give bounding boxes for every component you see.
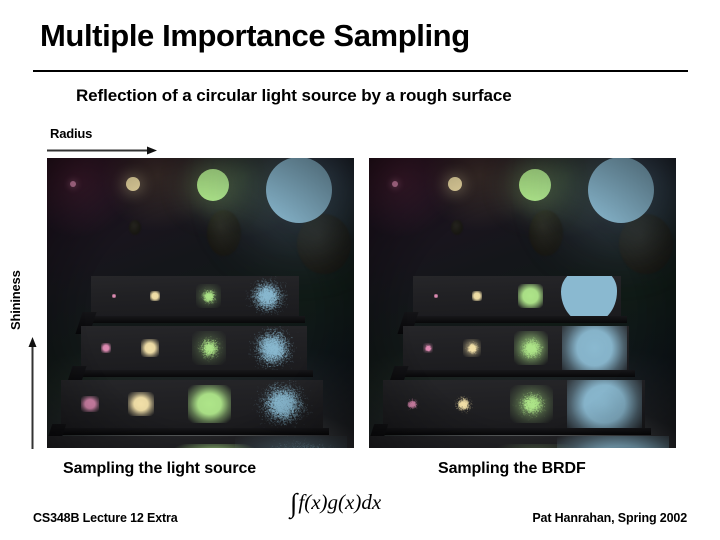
shininess-arrow-icon — [28, 337, 37, 449]
footer-author: Pat Hanrahan, Spring 2002 — [532, 511, 687, 525]
footer-course: CS348B Lecture 12 Extra — [33, 511, 178, 525]
shininess-axis-label: Shininess — [8, 210, 23, 330]
slide-canvas: Multiple Importance Sampling Reflection … — [0, 0, 720, 540]
caption-brdf-sampling: Sampling the BRDF — [438, 460, 586, 478]
page-title: Multiple Importance Sampling — [40, 18, 680, 54]
title-divider — [33, 70, 688, 72]
scene-vignette — [369, 158, 676, 448]
radius-arrow-icon — [47, 146, 157, 155]
subtitle: Reflection of a circular light source by… — [76, 86, 676, 106]
integral-body: f(x)g(x)dx — [298, 490, 381, 514]
caption-light-sampling: Sampling the light source — [63, 460, 256, 478]
scene-vignette — [47, 158, 354, 448]
radius-axis-label: Radius — [50, 126, 92, 141]
render-panel-light-sampling — [47, 158, 354, 448]
render-panel-brdf-sampling — [369, 158, 676, 448]
integral-formula: ∫f(x)g(x)dx — [290, 488, 381, 519]
